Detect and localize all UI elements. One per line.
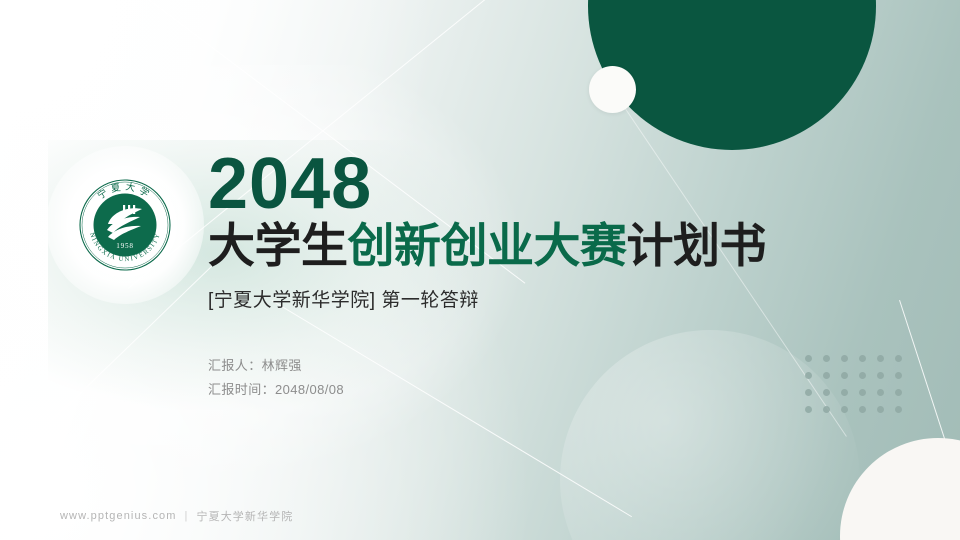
subtitle: [宁夏大学新华学院] 第一轮答辩 — [208, 285, 848, 312]
presentation-title-slide: 1958 宁夏大学 NINGXIA UNIVERSITY 2048 大学生创新创… — [0, 0, 960, 540]
main-title: 大学生创新创业大赛计划书 — [208, 222, 848, 271]
date-line: 汇报时间：2048/08/08 — [208, 378, 848, 402]
presentation-meta: 汇报人：林辉强 汇报时间：2048/08/08 — [208, 354, 848, 402]
presenter-line: 汇报人：林辉强 — [208, 354, 848, 378]
footer-organization: 宁夏大学新华学院 — [197, 508, 294, 524]
main-title-segment-1: 大学生 — [208, 219, 348, 272]
university-logo: 1958 宁夏大学 NINGXIA UNIVERSITY — [72, 172, 178, 278]
footer: www.pptgenius.com | 宁夏大学新华学院 — [60, 508, 293, 524]
main-title-segment-2: 创新创业大赛 — [348, 219, 627, 272]
decorative-small-white-circle — [589, 66, 636, 113]
main-title-segment-3: 计划书 — [627, 219, 767, 272]
footer-separator: | — [185, 510, 189, 522]
svg-text:1958: 1958 — [116, 242, 134, 250]
footer-website[interactable]: www.pptgenius.com — [60, 510, 177, 522]
year-heading: 2048 — [208, 150, 848, 218]
title-content-block: 2048 大学生创新创业大赛计划书 [宁夏大学新华学院] 第一轮答辩 汇报人：林… — [208, 150, 848, 402]
ningxia-university-seal-icon: 1958 宁夏大学 NINGXIA UNIVERSITY — [72, 172, 178, 278]
